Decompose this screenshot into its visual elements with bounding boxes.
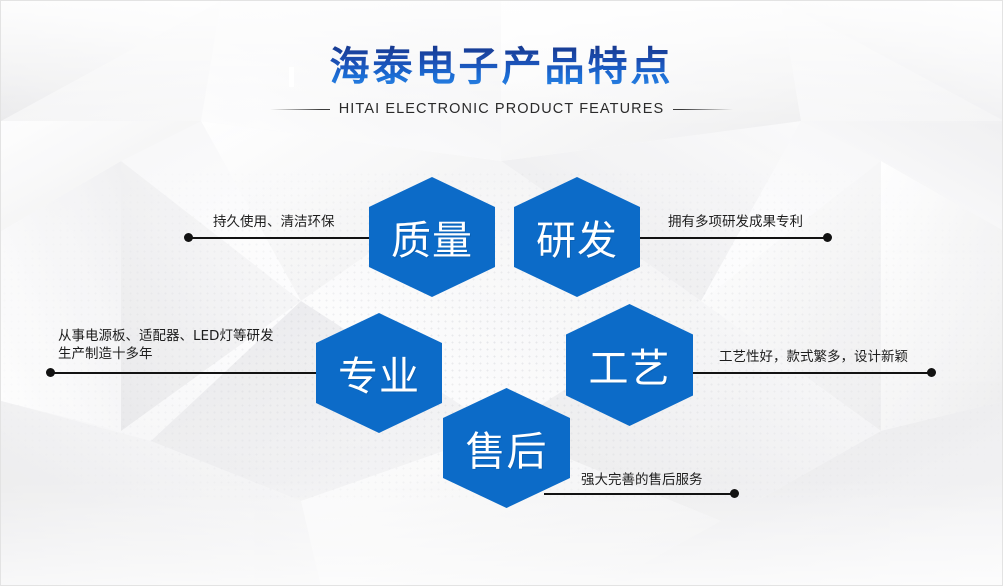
caption-professional-line1: 从事电源板、适配器、LED灯等研发 (58, 327, 273, 345)
subtitle-rule-left (270, 109, 330, 110)
title-accent-tick (289, 67, 294, 87)
caption-quality: 持久使用、清洁环保 (213, 213, 335, 231)
hexagon-quality-label: 质量 (391, 208, 473, 266)
hexagon-service-label: 售后 (466, 419, 548, 477)
connector-dot-professional (46, 368, 55, 377)
subtitle-rule-right (673, 109, 733, 110)
hexagon-rd-label: 研发 (536, 208, 618, 266)
page-subtitle: HITAI ELECTRONIC PRODUCT FEATURES (339, 101, 665, 117)
connector-line-service (544, 493, 734, 495)
hexagon-professional-label: 专业 (338, 344, 420, 402)
connector-dot-quality (184, 233, 193, 242)
connector-line-quality (189, 237, 372, 239)
connector-line-rd (637, 237, 827, 239)
connector-line-craft (689, 372, 932, 374)
caption-craft: 工艺性好，款式繁多，设计新颖 (719, 348, 908, 366)
connector-dot-service (730, 489, 739, 498)
connector-dot-craft (927, 368, 936, 377)
caption-professional: 从事电源板、适配器、LED灯等研发 生产制造十多年 (58, 327, 273, 363)
connector-line-professional (51, 372, 323, 374)
caption-professional-line2: 生产制造十多年 (58, 345, 273, 363)
subtitle-row: HITAI ELECTRONIC PRODUCT FEATURES (1, 101, 1002, 117)
caption-rd: 拥有多项研发成果专利 (668, 213, 803, 231)
page-title: 海泰电子产品特点 (1, 45, 1002, 89)
caption-service: 强大完善的售后服务 (581, 471, 703, 489)
connector-dot-rd (823, 233, 832, 242)
page-header: 海泰电子产品特点 HITAI ELECTRONIC PRODUCT FEATUR… (1, 45, 1002, 117)
feature-infographic: 海泰电子产品特点 HITAI ELECTRONIC PRODUCT FEATUR… (0, 0, 1003, 586)
hexagon-craft-label: 工艺 (589, 336, 671, 394)
